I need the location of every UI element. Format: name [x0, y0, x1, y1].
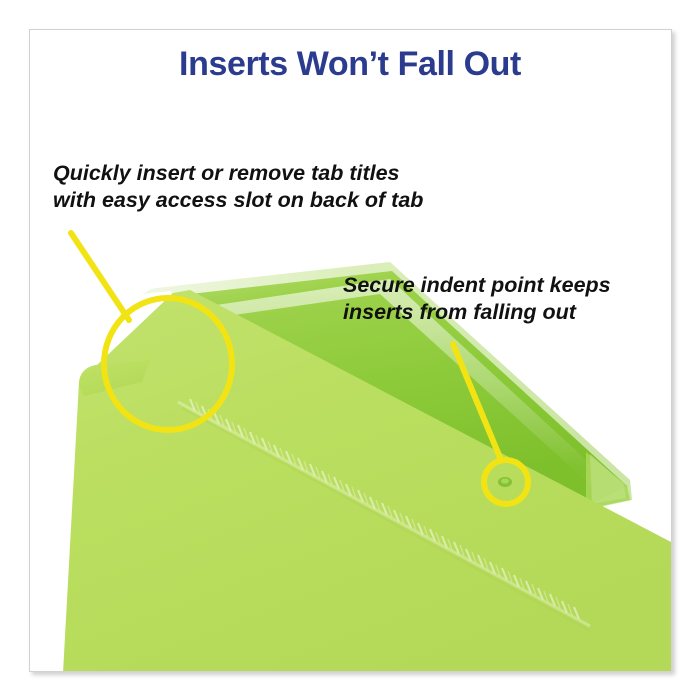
callout-text-access-slot-line2: with easy access slot on back of tab — [53, 187, 423, 214]
callout-text-indent-point-line2: inserts from falling out — [343, 299, 611, 326]
callout-text-access-slot-line1: Quickly insert or remove tab titles — [53, 160, 423, 187]
product-callout-graphic: Inserts Won’t Fall Out Quickly insert or… — [0, 0, 700, 700]
page-title: Inserts Won’t Fall Out — [0, 46, 700, 83]
callout-marker-indent-point — [453, 344, 528, 504]
callout-text-access-slot: Quickly insert or remove tab titles with… — [53, 160, 423, 214]
callout-annotation-layer — [30, 30, 671, 671]
callout-text-indent-point-line1: Secure indent point keeps — [343, 272, 611, 299]
callout-text-indent-point: Secure indent point keeps inserts from f… — [343, 272, 611, 326]
callout-marker-access-slot — [71, 233, 232, 430]
product-photo-frame — [29, 29, 672, 672]
